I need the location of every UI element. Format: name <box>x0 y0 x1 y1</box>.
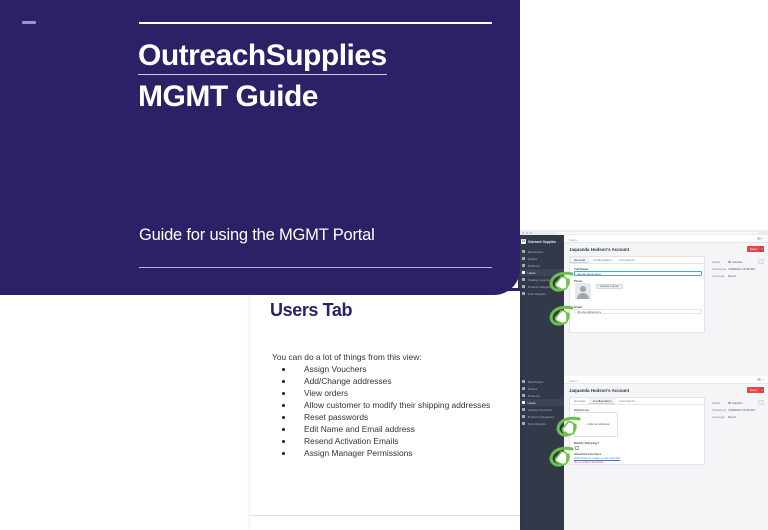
slide-title: OutreachSupplies MGMT Guide Guide for us… <box>0 0 520 295</box>
avatar <box>757 237 760 240</box>
app-screenshot-configuration-tab: Dashboard Orders Products Users Catalog … <box>518 376 768 530</box>
sidebar-item-label: Orders <box>528 387 537 391</box>
dashboard-icon <box>522 380 525 383</box>
app-content-area: Users Jaquanda Hudson's Account Save ▾ G… <box>564 235 768 382</box>
brand-name: Outreach Supplies <box>528 240 556 244</box>
dashboard-icon <box>522 250 525 253</box>
brand-logo-icon: O <box>521 239 526 244</box>
meta-key: Status <box>712 260 728 264</box>
annotation-hand-cursor-icon <box>549 446 575 468</box>
users-icon <box>522 401 525 404</box>
page-title: Jaquanda Hudson's Account <box>569 388 629 393</box>
title-bottom-rule <box>139 267 492 268</box>
sidebar-item-label: Users <box>527 401 535 405</box>
save-dropdown-caret-icon[interactable]: ▾ <box>760 387 764 393</box>
reports-icon <box>522 422 525 425</box>
deck-title-line-1: OutreachSupplies <box>138 38 387 75</box>
list-item: Allow customer to modify their shipping … <box>272 399 504 411</box>
deck-title: OutreachSupplies MGMT Guide <box>138 38 508 114</box>
user-menu[interactable] <box>757 237 764 240</box>
meta-key: Last login <box>712 415 728 419</box>
sidebar-item-label: Products <box>528 394 540 398</box>
sidebar-item-label: Dashboard <box>528 380 543 384</box>
save-button[interactable]: Save <box>747 387 760 393</box>
accent-dash-icon <box>22 21 36 24</box>
sidebar-item-orders[interactable]: Orders <box>518 255 564 262</box>
categories-icon <box>522 285 525 288</box>
account-form-panel: General Configuration Comments Full Name… <box>569 256 705 333</box>
avatar-preview <box>575 283 591 299</box>
meta-key: Created at <box>712 408 728 412</box>
sidebar-item-dashboard[interactable]: Dashboard <box>518 248 564 255</box>
column-settings-icon[interactable] <box>758 259 764 264</box>
sidebar-item-catalog-vouchers[interactable]: Catalog Vouchers <box>518 406 564 413</box>
meta-value: Never <box>728 415 736 419</box>
list-item: View orders <box>272 387 504 399</box>
account-form-panel: General Configuration Comments Addresses… <box>569 397 705 465</box>
deck-title-line-2: MGMT Guide <box>138 79 508 114</box>
sidebar-item-products[interactable]: Products <box>518 262 564 269</box>
tab-comments[interactable]: Comments <box>615 257 638 263</box>
sidebar-item-orders[interactable]: Orders <box>518 385 564 392</box>
add-address-button[interactable]: + Add an address <box>586 422 609 426</box>
slide-users-tab: Users Tab You can do a lot of things fro… <box>250 288 520 530</box>
annotation-hand-cursor-icon <box>549 271 575 293</box>
save-button-group[interactable]: Save ▾ <box>747 387 764 393</box>
breadcrumb: Users <box>569 238 577 242</box>
full-name-input[interactable]: Jaquanda Hudson <box>574 271 702 276</box>
sidebar-item-label: Catalog Vouchers <box>528 408 552 412</box>
products-icon <box>522 264 525 267</box>
title-top-rule <box>139 22 492 24</box>
meta-key: Status <box>712 401 728 405</box>
orders-icon <box>522 257 525 260</box>
meta-row: StatusInactive <box>712 260 755 264</box>
sidebar-item-products[interactable]: Products <box>518 392 564 399</box>
app-topbar: Users <box>564 235 768 243</box>
app-screenshot-general-tab: O Outreach Supplies Dashboard Orders Pro… <box>518 230 768 382</box>
email-input[interactable]: dhudson@aol.gov <box>574 309 702 314</box>
modify-shipping-checkbox[interactable] <box>575 446 579 450</box>
form-tabs: General Configuration Comments <box>570 257 704 264</box>
meta-value: 7/28/2021 10:38 AM <box>728 267 755 271</box>
users-icon <box>522 271 525 274</box>
list-item: Reset passwords <box>272 411 504 423</box>
chevron-down-icon <box>762 379 764 380</box>
capability-list: Assign Vouchers Add/Change addresses Vie… <box>272 363 504 459</box>
app-content-area: Users Jaquanda Hudson's Account Save ▾ G… <box>564 376 768 530</box>
account-meta-panel: StatusInactive Created at7/28/2021 10:38… <box>712 260 755 282</box>
column-settings-icon[interactable] <box>758 400 764 405</box>
sidebar-item-label: Dashboard <box>528 250 543 254</box>
meta-row: Created at7/28/2021 10:38 AM <box>712 408 755 412</box>
presentation-canvas: O Outreach Supplies Dashboard Orders Pro… <box>0 0 768 530</box>
meta-row: Created at7/28/2021 10:38 AM <box>712 267 755 271</box>
slide-footer-divider <box>250 515 520 516</box>
list-item: Edit Name and Email address <box>272 423 504 435</box>
list-item: Add/Change addresses <box>272 375 504 387</box>
save-dropdown-caret-icon[interactable]: ▾ <box>760 246 764 252</box>
deck-subtitle: Guide for using the MGMT Portal <box>139 226 509 245</box>
user-menu[interactable] <box>757 378 764 381</box>
save-button-group[interactable]: Save ▾ <box>747 246 764 252</box>
status-badge: Inactive <box>728 260 742 264</box>
meta-row: StatusInactive <box>712 401 755 405</box>
chevron-down-icon <box>762 238 764 239</box>
annotation-hand-cursor-icon <box>549 305 575 327</box>
meta-key: Last login <box>712 274 728 278</box>
sidebar-item-label: Tech Reports <box>528 292 546 296</box>
sidebar-item-label: Product Categories <box>528 415 554 419</box>
reports-icon <box>522 292 525 295</box>
breadcrumb: Users <box>569 379 577 383</box>
meta-value: Never <box>728 274 736 278</box>
intro-text: You can do a lot of things from this vie… <box>272 351 502 363</box>
app-topbar: Users <box>564 376 768 384</box>
sidebar-item-users[interactable]: Users <box>518 399 564 406</box>
sidebar-item-label: Users <box>527 271 535 275</box>
page-title: Users Tab <box>270 300 352 321</box>
sidebar-item-label: Orders <box>528 257 537 261</box>
modify-shipping-label: Modify Shipping? <box>574 441 599 445</box>
save-button[interactable]: Save <box>747 246 760 252</box>
categories-icon <box>522 415 525 418</box>
meta-key: Created at <box>712 267 728 271</box>
sidebar-item-label: Products <box>528 264 540 268</box>
meta-value: 7/28/2021 10:38 AM <box>728 408 755 412</box>
list-item: Assign Manager Permissions <box>272 447 504 459</box>
form-tabs: General Configuration Comments <box>570 398 704 405</box>
list-item: Resend Activation Emails <box>272 435 504 447</box>
no-vouchers-note: No vouchers attached <box>574 460 603 464</box>
upload-photo-button[interactable]: Upload a photo <box>596 284 623 289</box>
page-title: Jaquanda Hudson's Account <box>569 247 629 252</box>
tab-configuration[interactable]: Configuration <box>589 398 615 404</box>
sidebar-item-dashboard[interactable]: Dashboard <box>518 378 564 385</box>
orders-icon <box>522 387 525 390</box>
avatar <box>757 378 760 381</box>
tab-comments[interactable]: Comments <box>615 398 638 404</box>
tab-general[interactable]: General <box>570 398 589 404</box>
status-badge: Inactive <box>728 401 742 405</box>
app-brand: O Outreach Supplies <box>521 239 556 244</box>
tab-general[interactable]: General <box>570 257 589 263</box>
voucher-icon <box>522 408 525 411</box>
annotation-hand-cursor-icon <box>556 416 582 438</box>
products-icon <box>522 394 525 397</box>
meta-row: Last loginNever <box>712 415 755 419</box>
meta-row: Last loginNever <box>712 274 755 278</box>
account-meta-panel: StatusInactive Created at7/28/2021 10:38… <box>712 401 755 423</box>
list-item: Assign Vouchers <box>272 363 504 375</box>
tab-configuration[interactable]: Configuration <box>589 257 615 263</box>
sidebar-item-label: Tech Reports <box>528 422 546 426</box>
voucher-icon <box>522 278 525 281</box>
browser-url-bar[interactable] <box>558 232 758 234</box>
